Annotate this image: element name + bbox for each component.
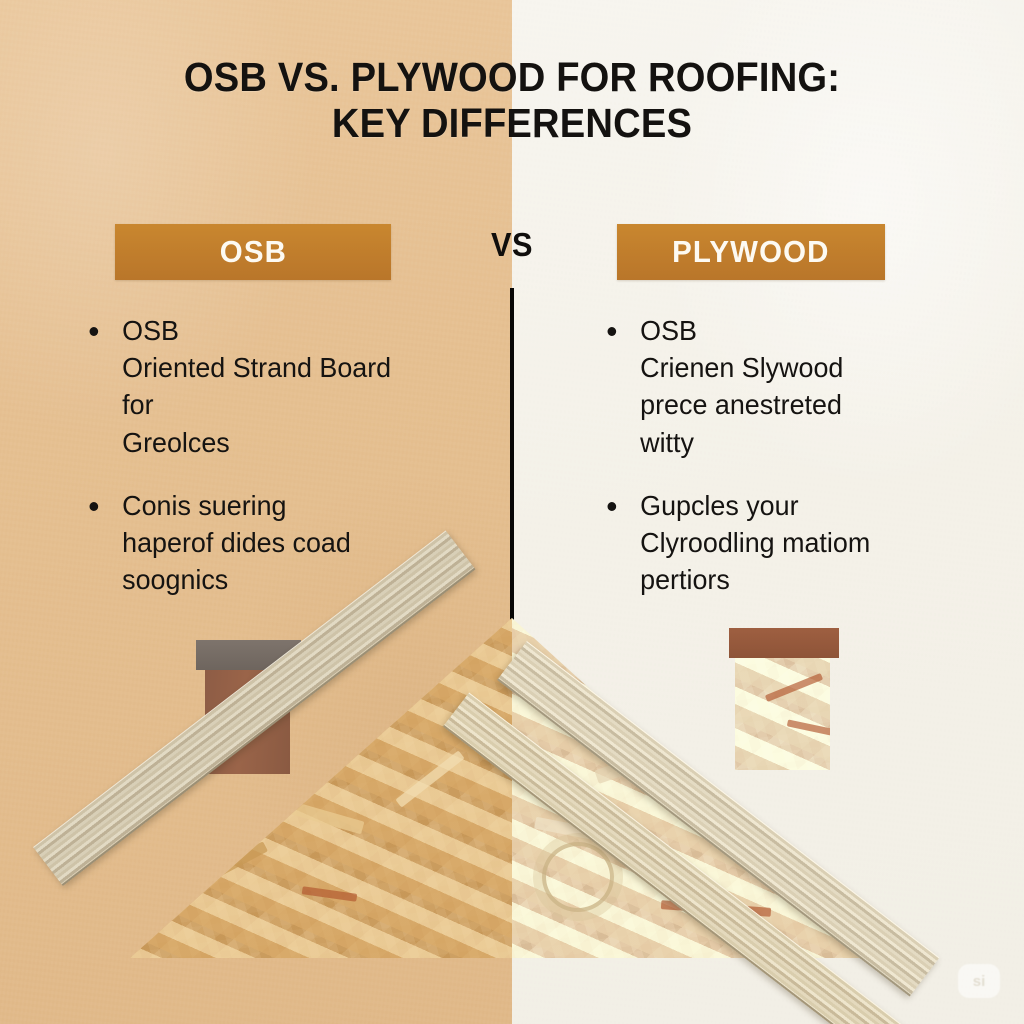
watermark-badge: si bbox=[958, 964, 1000, 998]
bullet-line: Oriented Strand Board bbox=[122, 349, 476, 386]
bullet-line: OSB bbox=[640, 312, 951, 349]
page-title-line-2: KEY DIFFERENCES bbox=[36, 101, 988, 147]
bullet-line: Gupcles your bbox=[640, 487, 951, 524]
column-header-osb-label: OSB bbox=[219, 234, 286, 270]
list-item: OSB Oriented Strand Board for Greolces bbox=[78, 312, 476, 461]
bullet-list-plywood: OSB Crienen Slywood prece anestreted wit… bbox=[596, 312, 966, 625]
vs-label: VS bbox=[475, 226, 549, 264]
page-title-line-1: OSB VS. PLYWOOD FOR ROOFING: bbox=[36, 55, 988, 101]
bullet-line: OSB bbox=[122, 312, 476, 349]
bullet-line: Greolces bbox=[122, 424, 476, 461]
list-item: Gupcles your Clyroodling matiom pertiors bbox=[596, 487, 951, 599]
column-header-plywood-label: PLYWOOD bbox=[672, 234, 829, 270]
bullet-line: for bbox=[122, 386, 476, 423]
bullet-line: Crienen Slywood bbox=[640, 349, 951, 386]
column-header-osb: OSB bbox=[115, 224, 391, 280]
chimney-right-cap bbox=[729, 628, 839, 658]
bullet-line: pertiors bbox=[640, 561, 951, 598]
bullet-line: witty bbox=[640, 424, 951, 461]
chimney-right-body bbox=[735, 650, 830, 770]
watermark-glyph: si bbox=[973, 973, 986, 990]
column-header-plywood: PLYWOOD bbox=[617, 224, 885, 280]
strand-chip bbox=[359, 671, 429, 697]
bullet-line: Conis suering bbox=[122, 487, 476, 524]
list-item: OSB Crienen Slywood prece anestreted wit… bbox=[596, 312, 951, 461]
strand-texture bbox=[735, 650, 830, 770]
page-title: OSB VS. PLYWOOD FOR ROOFING: KEY DIFFERE… bbox=[36, 55, 988, 147]
roof-illustration bbox=[0, 600, 1024, 945]
infographic-canvas: OSB VS. PLYWOOD FOR ROOFING: KEY DIFFERE… bbox=[0, 0, 1024, 1024]
bullet-line: Clyroodling matiom bbox=[640, 524, 951, 561]
wood-knot bbox=[542, 842, 614, 912]
bullet-line: prece anestreted bbox=[640, 386, 951, 423]
